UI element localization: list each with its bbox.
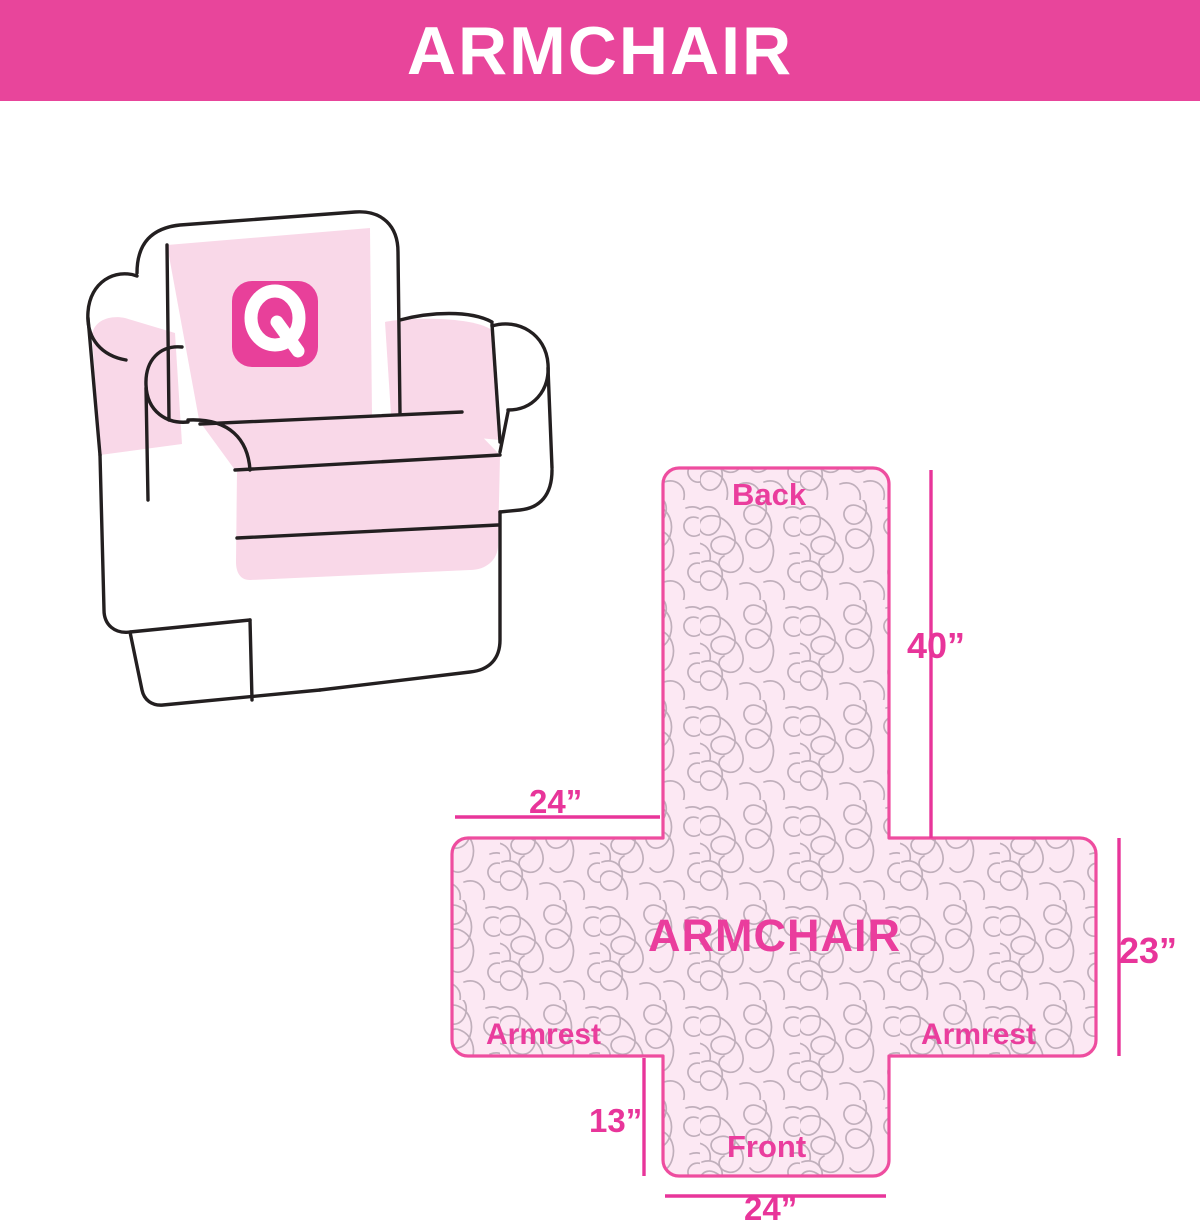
dimension-label-arm-width: 24” (529, 785, 582, 818)
diagram-stage: Back ARMCHAIR Armrest Armrest Front 40” … (0, 101, 1200, 1200)
page-title: ARMCHAIR (407, 17, 793, 85)
panel-label-armrest-left: Armrest (486, 1020, 601, 1050)
header-band: ARMCHAIR (0, 0, 1200, 101)
panel-label-armrest-right: Armrest (921, 1020, 1036, 1050)
panel-label-center: ARMCHAIR (648, 913, 901, 958)
dimension-label-center-height: 23” (1119, 933, 1177, 969)
dimension-label-front-height: 13” (589, 1104, 642, 1137)
panel-label-front: Front (727, 1131, 806, 1162)
cover-cross-shape (452, 468, 1096, 1176)
dimension-label-back-height: 40” (907, 628, 965, 664)
panel-label-back: Back (732, 479, 806, 510)
dimension-label-front-width: 24” (744, 1192, 797, 1225)
